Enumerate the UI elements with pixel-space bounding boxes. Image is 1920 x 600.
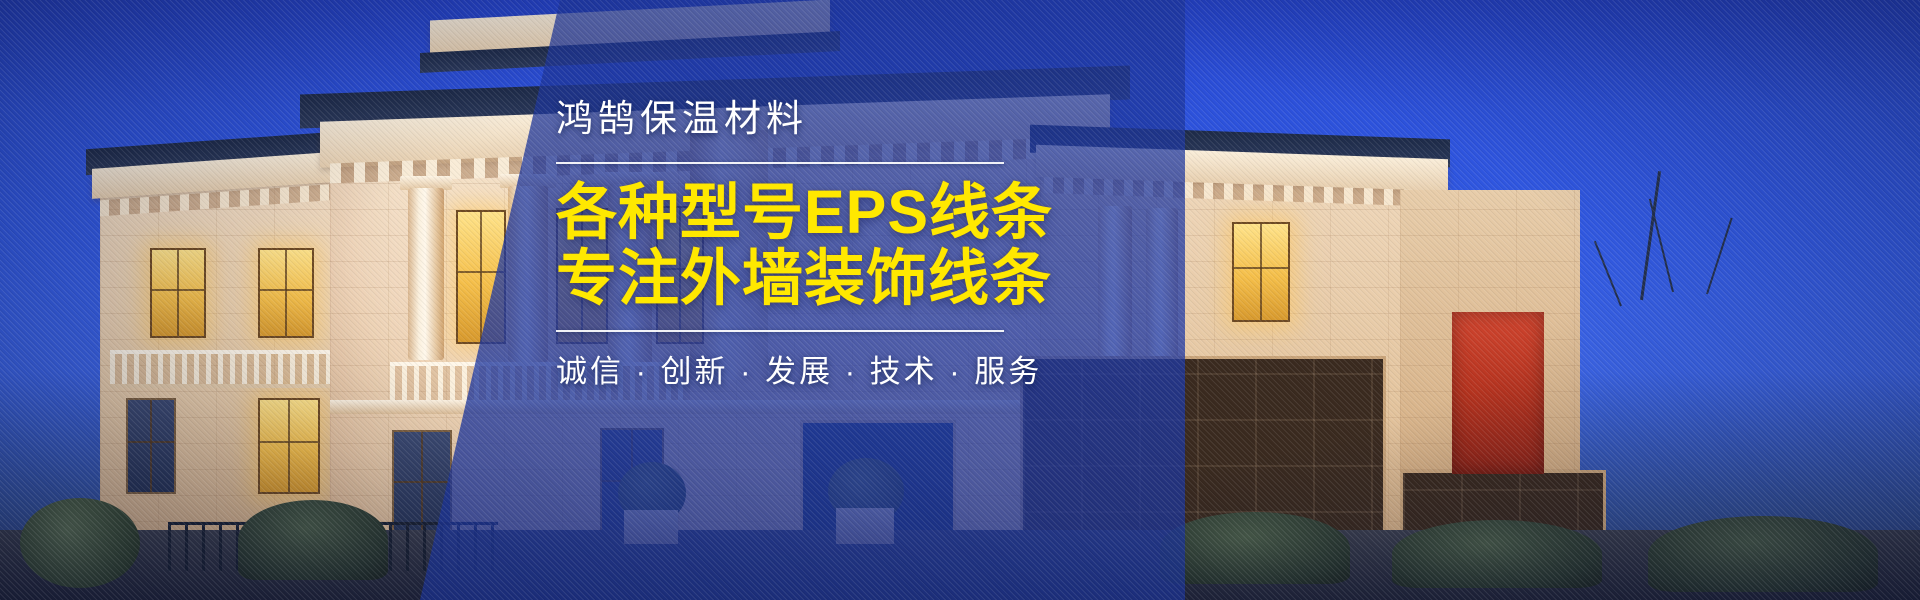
balustrade (110, 350, 360, 388)
hedge (1392, 520, 1602, 588)
window-lit (258, 248, 314, 338)
headline-line-1: 各种型号EPS线条 (556, 180, 1176, 246)
column (408, 188, 444, 360)
hedge (238, 500, 388, 580)
tagline: 诚信 · 创新 · 发展 · 技术 · 服务 (556, 352, 1176, 392)
divider-bottom (556, 330, 1004, 332)
window-lit (258, 398, 320, 494)
hero-banner: 鸿鹄保温材料 各种型号EPS线条 专注外墙装饰线条 诚信 · 创新 · 发展 ·… (0, 0, 1920, 600)
hedge (1648, 516, 1878, 592)
divider-top (556, 162, 1004, 164)
hedge (1160, 512, 1350, 584)
window-lit (1232, 222, 1290, 322)
window-lit (150, 248, 206, 338)
window-dark (126, 398, 176, 494)
banner-copy: 鸿鹄保温材料 各种型号EPS线条 专注外墙装饰线条 诚信 · 创新 · 发展 ·… (556, 96, 1176, 392)
brand-eyebrow: 鸿鹄保温材料 (556, 96, 1176, 142)
red-container (1452, 312, 1544, 474)
headline-line-2: 专注外墙装饰线条 (556, 246, 1176, 312)
shrub (20, 498, 140, 588)
